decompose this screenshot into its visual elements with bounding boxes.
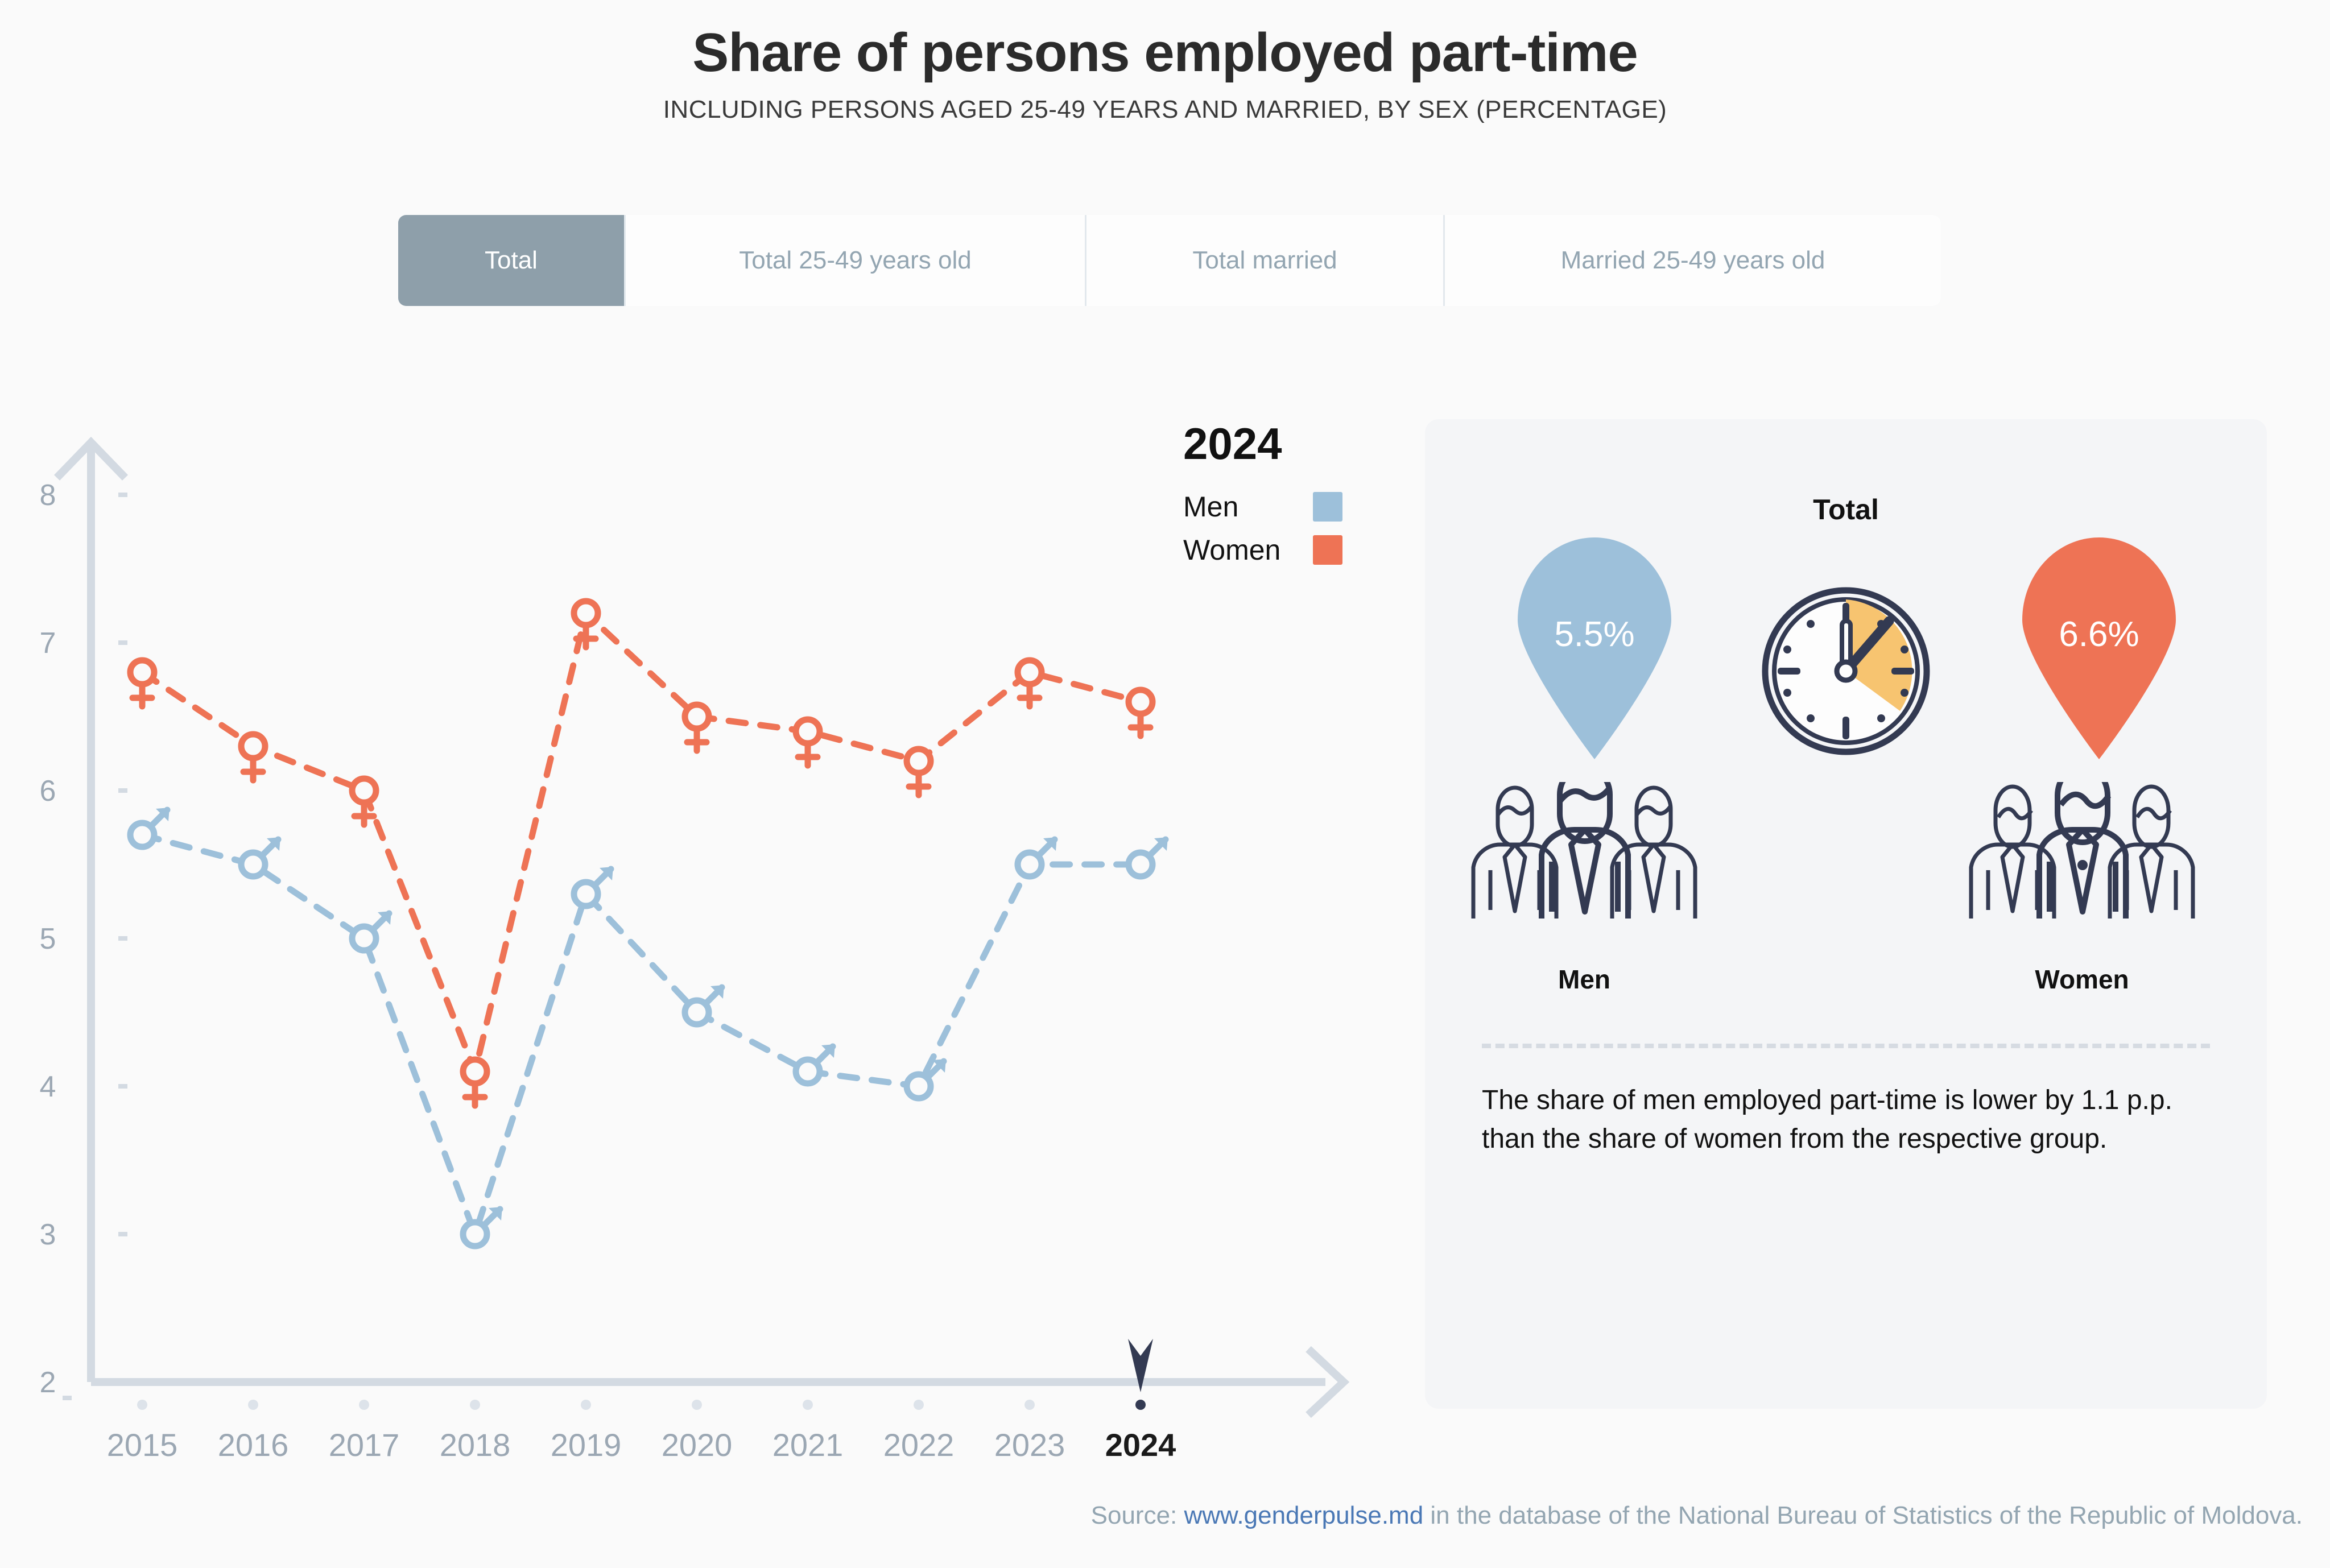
chart-svg: 2345678201520162017201820192020202120222…	[0, 398, 1394, 1479]
svg-text:2022: 2022	[883, 1427, 955, 1463]
women-value: 6.6%	[2059, 614, 2139, 655]
page-title: Share of persons employed part-time	[0, 23, 2330, 83]
svg-text:5: 5	[40, 922, 56, 955]
svg-text:7: 7	[40, 627, 56, 660]
svg-text:2016: 2016	[218, 1427, 289, 1463]
svg-text:2024: 2024	[1105, 1427, 1176, 1463]
source-footer: Source: www.genderpulse.md in the databa…	[0, 1501, 2330, 1530]
svg-text:2023: 2023	[994, 1427, 1065, 1463]
men-value: 5.5%	[1554, 614, 1634, 655]
svg-text:2019: 2019	[551, 1427, 622, 1463]
tab-total[interactable]: Total	[398, 215, 626, 306]
svg-text:2018: 2018	[440, 1427, 511, 1463]
men-caption: Men	[1456, 964, 1712, 995]
men-people-group-icon	[1456, 782, 1712, 919]
tab-total-25-49-years-old[interactable]: Total 25-49 years old	[626, 215, 1086, 306]
svg-text:2017: 2017	[329, 1427, 400, 1463]
panel-divider	[1482, 1044, 2210, 1048]
source-link[interactable]: www.genderpulse.md	[1184, 1501, 1424, 1529]
summary-panel: Total 5.5%	[1425, 419, 2267, 1409]
panel-group-label: Total	[1425, 419, 2267, 526]
svg-text:2: 2	[40, 1366, 56, 1399]
tab-bar[interactable]: Total Total 25-49 years old Total marrie…	[398, 215, 1941, 306]
line-chart[interactable]: 2345678201520162017201820192020202120222…	[0, 398, 1394, 1479]
women-caption: Women	[1954, 964, 2210, 995]
svg-text:4: 4	[40, 1070, 56, 1103]
page-subtitle: INCLUDING PERSONS AGED 25-49 YEARS AND M…	[0, 96, 2330, 124]
page-header: Share of persons employed part-time INCL…	[0, 0, 2330, 124]
source-prefix: Source:	[1091, 1501, 1184, 1529]
pins-row: 5.5% 6.6%	[1425, 537, 2267, 776]
svg-text:8: 8	[40, 479, 56, 512]
clock-icon	[1761, 586, 1931, 756]
source-suffix: in the database of the National Bureau o…	[1423, 1501, 2303, 1529]
women-value-pin: 6.6%	[2014, 537, 2184, 759]
svg-text:3: 3	[40, 1218, 56, 1251]
people-icons-row	[1425, 782, 2267, 953]
tab-married-25-49-years-old[interactable]: Married 25-49 years old	[1445, 215, 1941, 306]
svg-text:2015: 2015	[107, 1427, 178, 1463]
women-people-group-icon	[1954, 782, 2210, 919]
svg-text:6: 6	[40, 775, 56, 808]
panel-description: The share of men employed part-time is l…	[1482, 1081, 2210, 1159]
people-captions: Men Women	[1425, 964, 2267, 1010]
tab-total-married[interactable]: Total married	[1086, 215, 1445, 306]
men-value-pin: 5.5%	[1509, 537, 1680, 759]
svg-text:2021: 2021	[772, 1427, 844, 1463]
svg-text:2020: 2020	[662, 1427, 733, 1463]
